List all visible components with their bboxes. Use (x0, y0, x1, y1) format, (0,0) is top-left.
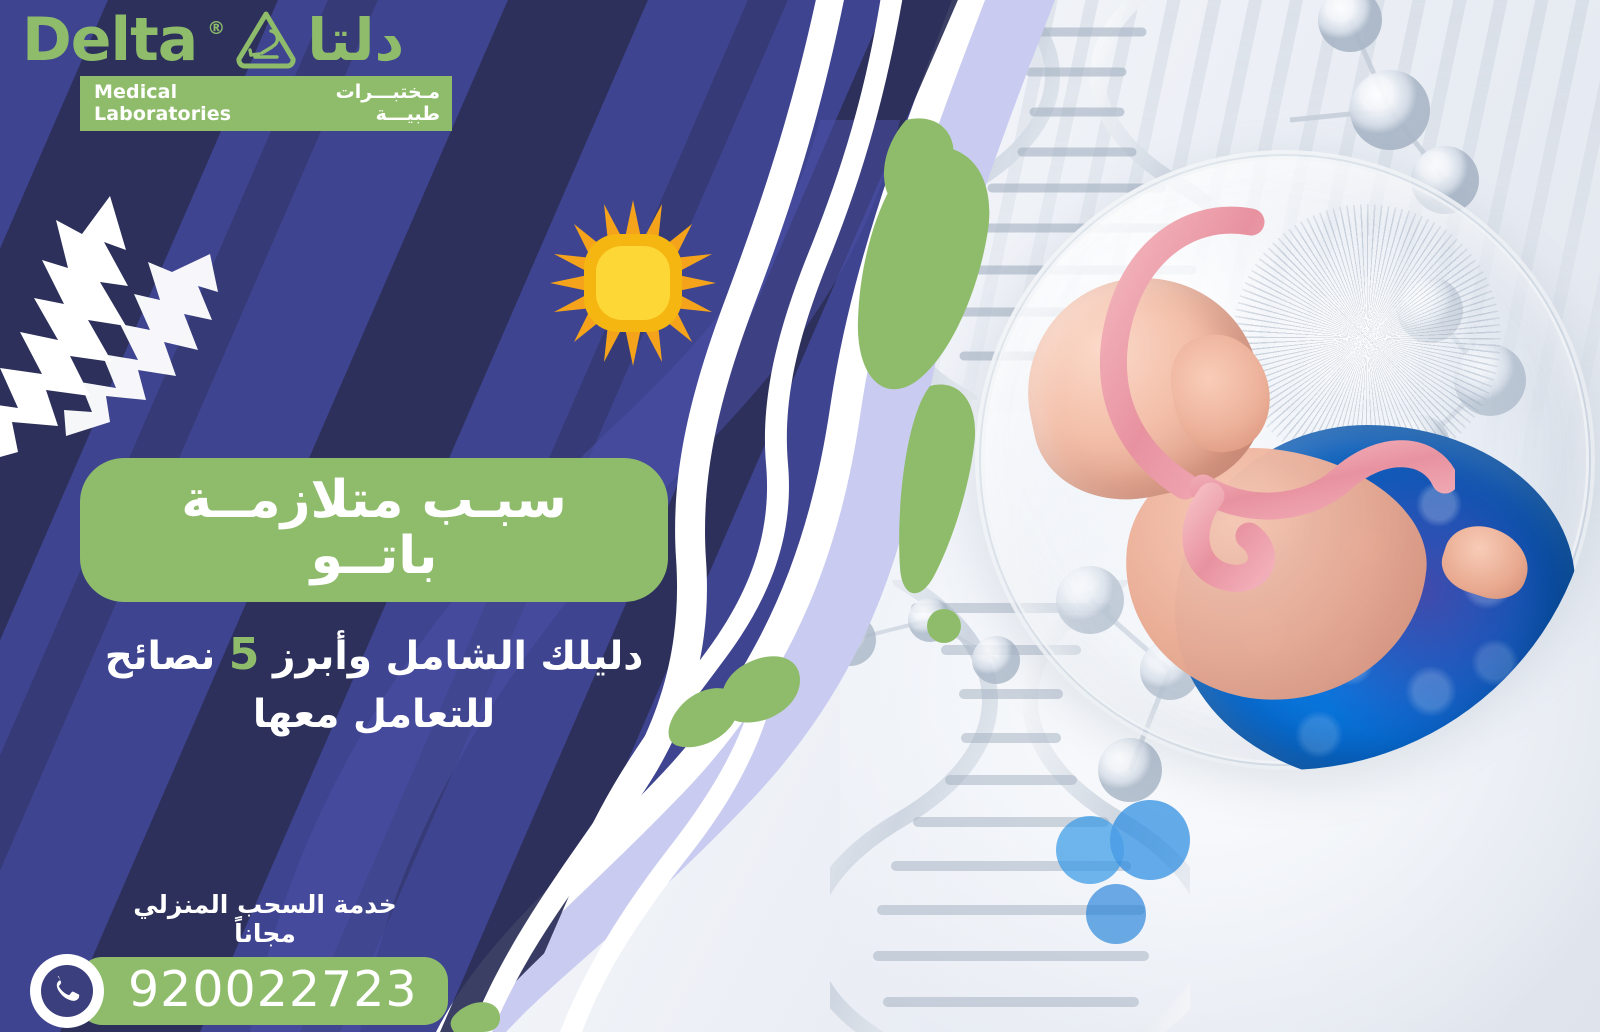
tagline-ar: مـختبـــرات طبيـــة (295, 81, 440, 125)
phone-row[interactable]: 920022723 (30, 954, 430, 1028)
subtitle-line-2: للتعامل معها (253, 692, 495, 737)
whatsapp-icon[interactable] (30, 954, 104, 1028)
logo-wordmark-ar: دلتا (307, 11, 404, 69)
tagline-en: Medical Laboratories (94, 81, 281, 125)
subtitle-part-1: دليلك الشامل وأبرز (259, 634, 643, 679)
logo-wordmark-en: Delta (22, 10, 197, 70)
headline-block: سبـب متلازمــة باتــو دليلك الشامل وأبرز… (48, 458, 668, 742)
brand-logo[interactable]: Delta ® دلتا Medical Laboratories مـختبـ… (22, 10, 452, 131)
promo-banner: Delta ® دلتا Medical Laboratories مـختبـ… (0, 0, 1600, 1032)
subtitle-part-2: نصائح (105, 634, 229, 679)
contact-block: خدمة السحب المنزلي مجاناً 920022723 (30, 890, 430, 1028)
logo-tagline-bar: Medical Laboratories مـختبـــرات طبيـــة (80, 76, 452, 131)
page-subtitle: دليلك الشامل وأبرز 5 نصائح للتعامل معها (80, 624, 668, 742)
microscope-triangle-icon (235, 11, 297, 69)
service-note: خدمة السحب المنزلي مجاناً (100, 890, 430, 948)
sun-icon (548, 198, 718, 368)
phone-number[interactable]: 920022723 (78, 957, 448, 1026)
subtitle-number: 5 (229, 629, 260, 680)
page-title: سبـب متلازمــة باتــو (80, 458, 668, 602)
feather-leaf-icon (0, 190, 230, 470)
registered-mark-icon: ® (207, 18, 225, 39)
logo-top-row: Delta ® دلتا (22, 10, 452, 70)
